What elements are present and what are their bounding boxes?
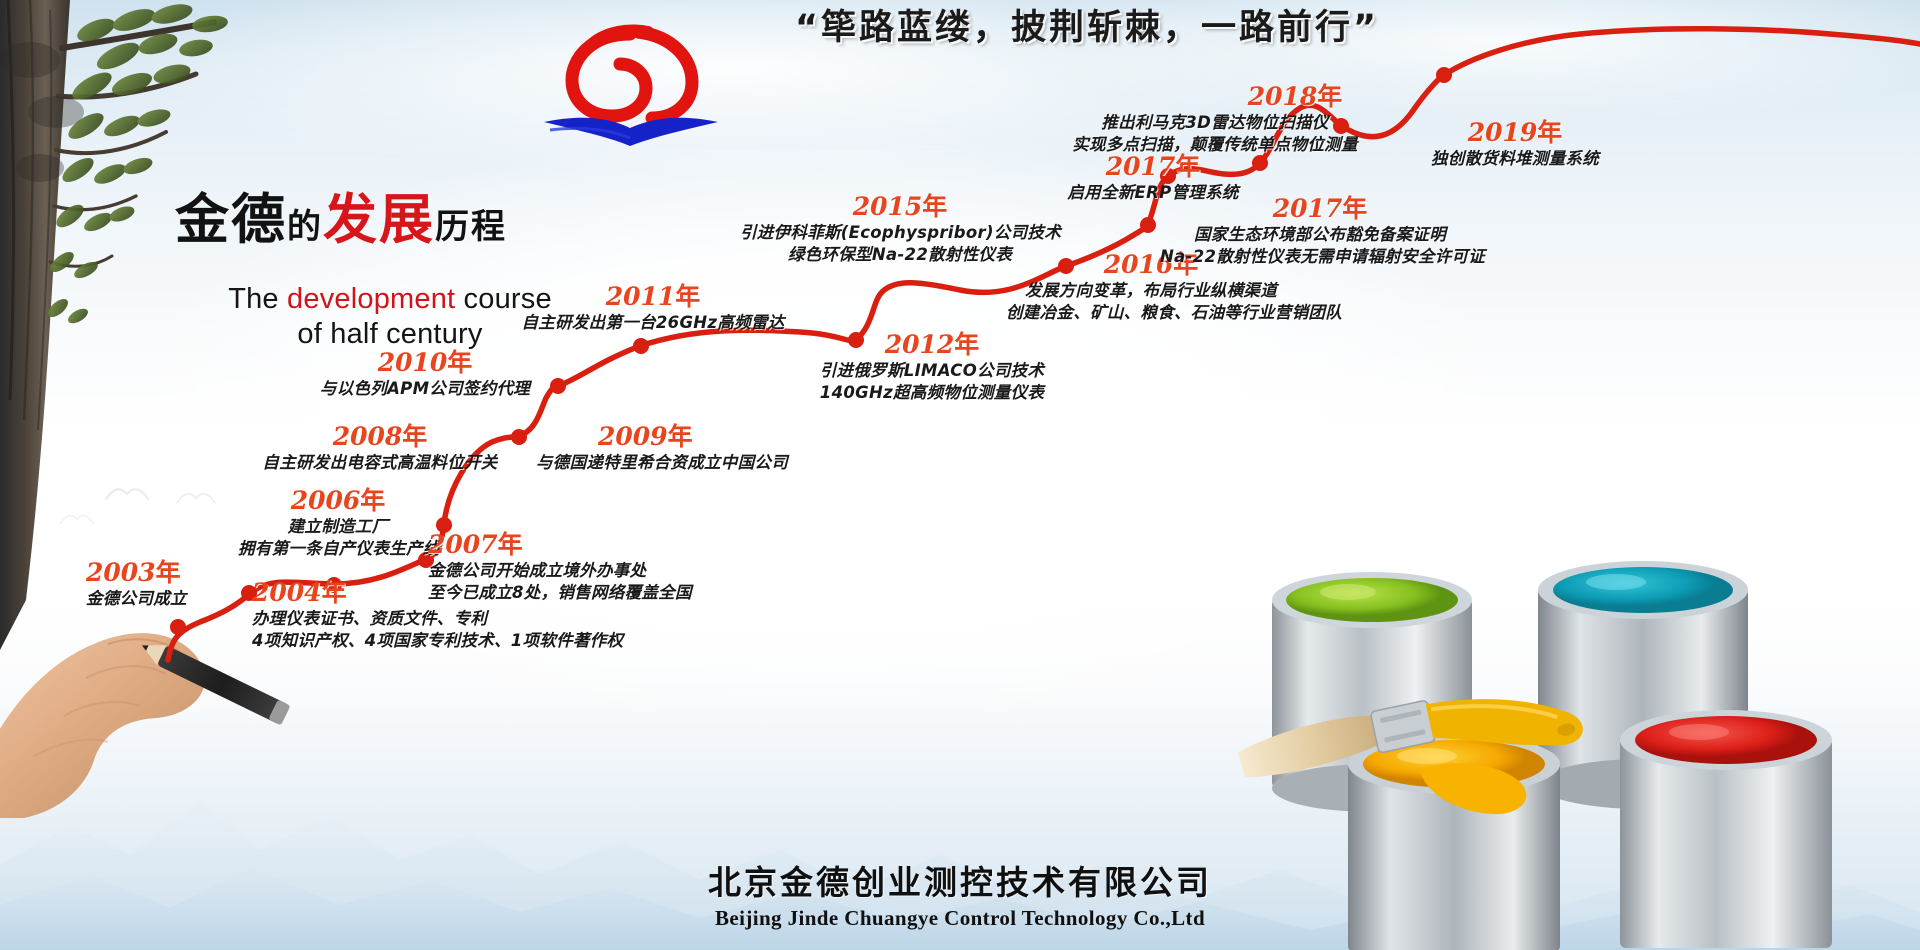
timeline-entry-2017-na22: 2017年 国家生态环境部公布豁免备案证明 Na-22散射性仪表无需申请辐射安全… bbox=[1160, 194, 1480, 268]
timeline-entry-2003: 2003年 金德公司成立 bbox=[86, 558, 187, 610]
timeline-dot-2019 bbox=[1436, 67, 1452, 83]
timeline-desc-2018-line2: 实现多点扫描，颠覆传统单点物位测量 bbox=[1050, 134, 1380, 156]
timeline-entry-2011: 2011年 自主研发出第一台26GHz高频雷达 bbox=[508, 282, 798, 334]
timeline-desc-2007-line2: 至今已成立8处，销售网络覆盖全国 bbox=[428, 582, 692, 604]
timeline-year-2007: 2007年 bbox=[428, 530, 692, 560]
timeline-year-2010: 2010年 bbox=[300, 348, 550, 378]
timeline-entry-2009: 2009年 与德国递特里希合资成立中国公司 bbox=[536, 422, 788, 474]
timeline-desc-2006: 建立制造工厂 bbox=[238, 516, 438, 538]
timeline-desc-2016-line2: 创建冶金、矿山、粮食、石油等行业营销团队 bbox=[1006, 302, 1296, 324]
timeline-year-2012: 2012年 bbox=[812, 330, 1052, 360]
timeline-desc-2006-line2: 拥有第一条自产仪表生产线 bbox=[238, 538, 438, 560]
timeline-desc-2018: 推出利马克3D雷达物位扫描仪 bbox=[1050, 112, 1380, 134]
poster-canvas: “筚路蓝缕，披荆斩棘，一路前行” 金德的发展历程 The development… bbox=[0, 0, 1920, 950]
timeline-desc-2004: 办理仪表证书、资质文件、专利 bbox=[252, 608, 623, 630]
timeline-dot-2016 bbox=[1140, 217, 1156, 233]
timeline-desc-2003: 金德公司成立 bbox=[86, 588, 187, 610]
timeline-dot-2003 bbox=[170, 619, 186, 635]
timeline-desc-2009: 与德国递特里希合资成立中国公司 bbox=[536, 452, 788, 474]
timeline-entry-2007: 2007年 金德公司开始成立境外办事处 至今已成立8处，销售网络覆盖全国 bbox=[428, 530, 692, 604]
timeline-year-2003: 2003年 bbox=[86, 558, 187, 588]
footer: 北京金德创业测控技术有限公司 Beijing Jinde Chuangye Co… bbox=[0, 862, 1920, 932]
timeline-desc-2016: 发展方向变革，布局行业纵横渠道 bbox=[1006, 280, 1296, 302]
timeline-year-2019: 2019年 bbox=[1380, 118, 1650, 148]
timeline-desc-2019: 独创散货料堆测量系统 bbox=[1380, 148, 1650, 170]
timeline-year-2011: 2011年 bbox=[508, 282, 798, 312]
timeline-desc-2008: 自主研发出电容式高温料位开关 bbox=[230, 452, 530, 474]
timeline-entry-2012: 2012年 引进俄罗斯LIMACO公司技术 140GHz超高频物位测量仪表 bbox=[812, 330, 1052, 404]
timeline-year-2018: 2018年 bbox=[1210, 82, 1380, 112]
timeline-dot-2010 bbox=[550, 378, 566, 394]
timeline-desc-2012-line2: 140GHz超高频物位测量仪表 bbox=[812, 382, 1052, 404]
timeline-desc-2007: 金德公司开始成立境外办事处 bbox=[428, 560, 692, 582]
timeline-desc-2015: 引进伊科菲斯(Ecophyspribor)公司技术 bbox=[740, 222, 1060, 244]
timeline-entry-2019: 2019年 独创散货料堆测量系统 bbox=[1380, 118, 1650, 170]
footer-company-en: Beijing Jinde Chuangye Control Technolog… bbox=[0, 904, 1920, 932]
timeline-desc-2017-na22: 国家生态环境部公布豁免备案证明 bbox=[1160, 224, 1480, 246]
timeline-year-2009: 2009年 bbox=[598, 422, 788, 452]
timeline-year-2006: 2006年 bbox=[238, 486, 438, 516]
timeline-dot-2011 bbox=[633, 338, 649, 354]
timeline-entry-2010: 2010年 与以色列APM公司签约代理 bbox=[300, 348, 550, 400]
timeline-desc-2010: 与以色列APM公司签约代理 bbox=[300, 378, 550, 400]
timeline-entry-2018: 2018年 推出利马克3D雷达物位扫描仪 实现多点扫描，颠覆传统单点物位测量 bbox=[1050, 82, 1380, 156]
timeline-year-2017-na22: 2017年 bbox=[1160, 194, 1480, 224]
timeline-desc-2012: 引进俄罗斯LIMACO公司技术 bbox=[812, 360, 1052, 382]
footer-company-cn: 北京金德创业测控技术有限公司 bbox=[0, 862, 1920, 904]
timeline-year-2008: 2008年 bbox=[230, 422, 530, 452]
timeline-entry-2008: 2008年 自主研发出电容式高温料位开关 bbox=[230, 422, 530, 474]
timeline-desc-2017-na22-line2: Na-22散射性仪表无需申请辐射安全许可证 bbox=[1160, 246, 1480, 268]
timeline-desc-2004-line2: 4项知识产权、4项国家专利技术、1项软件著作权 bbox=[252, 630, 623, 652]
timeline-year-2017-erp: 2017年 bbox=[1008, 152, 1298, 182]
timeline-desc-2011: 自主研发出第一台26GHz高频雷达 bbox=[508, 312, 798, 334]
timeline-entry-2006: 2006年 建立制造工厂 拥有第一条自产仪表生产线 bbox=[238, 486, 438, 560]
